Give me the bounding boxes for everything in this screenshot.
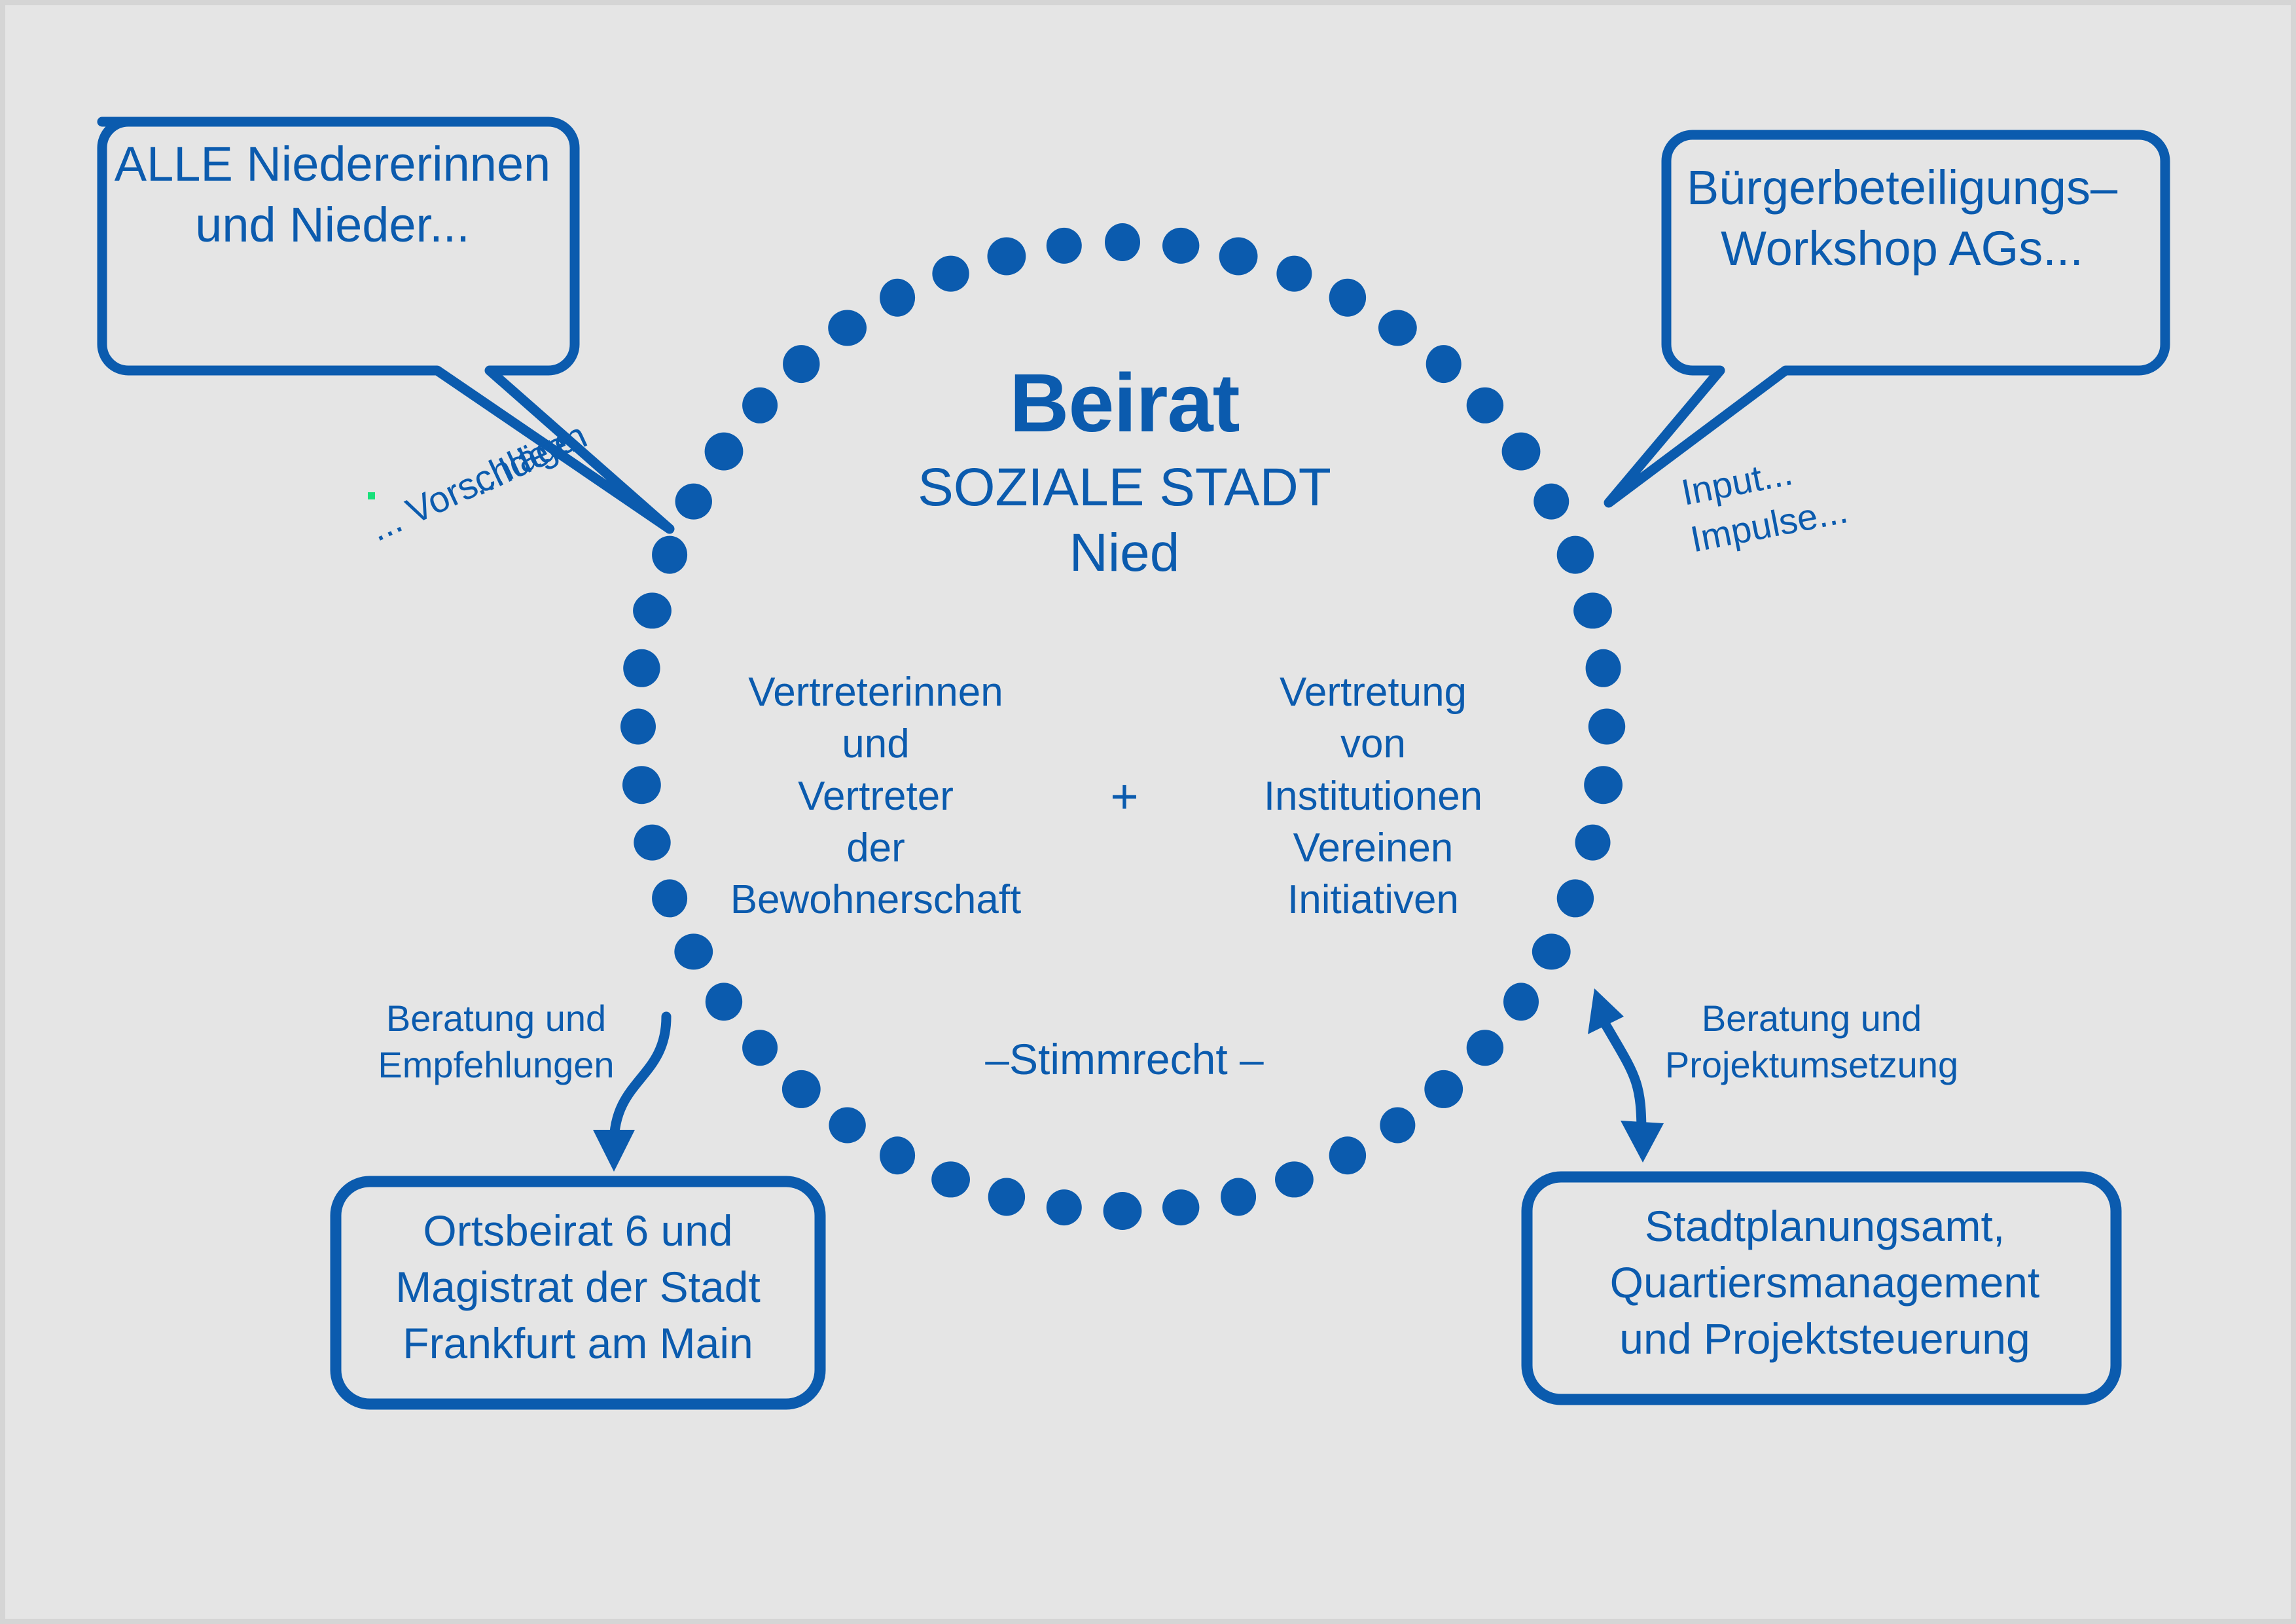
circle-dot [988,1178,1025,1216]
circle-columns: Vertreterinnen und Vertreter der Bewohne… [699,666,1550,926]
circle-dot [931,1161,970,1197]
box-bottom-right-label: Stadtplanungsamt, Quartiersmanagement un… [1537,1199,2113,1367]
circle-dot [633,592,672,628]
label-beratung-projektumsetzung: Beratung und Projektumsetzung [1635,996,1988,1088]
circle-column-left: Vertreterinnen und Vertreter der Bewohne… [699,666,1052,926]
circle-dot [1275,1161,1314,1197]
label-beratung-empfehlungen: Beratung und Empfehlungen [326,996,666,1088]
circle-dot [1503,983,1539,1020]
circle-dot [829,1108,865,1144]
circle-dot [1584,766,1623,804]
circle-dot [623,649,660,687]
circle-dot [706,983,742,1020]
circle-title-sub1: SOZIALE STADT [738,455,1511,520]
circle-dot [932,256,969,292]
circle-dot [1162,1189,1199,1225]
arrowhead-down-left [593,1130,635,1172]
circle-title-sub2: Nied [738,520,1511,586]
circle-dot [1380,1108,1415,1144]
circle-dot [880,279,915,317]
circle-dot [674,933,713,969]
circle-dot [1276,256,1312,292]
circle-dot [652,879,687,917]
box-bottom-left-label: Ortsbeirat 6 und Magistrat der Stadt Fra… [346,1203,810,1371]
bubble-top-right-label: Bürgerbeteiligungs– Workshop AGs... [1673,157,2131,279]
circle-dot [1162,228,1199,264]
circle-column-right: Vertretung von Institutionen Vereinen In… [1196,666,1550,926]
circle-dot [622,766,661,804]
circle-dot [742,1030,778,1066]
circle-dot [1047,228,1082,264]
circle-dot [988,238,1026,276]
circle-dot [1047,1189,1082,1225]
circle-dot [1557,879,1594,917]
diagram-canvas: ALLE Niedererinnen und Nieder... Bürgerb… [0,0,2296,1624]
circle-footer-stimmrecht: –Stimmrecht – [863,1034,1386,1084]
circle-dot [1221,1178,1256,1216]
circle-dot [782,1070,821,1108]
circle-dot [1329,1136,1366,1174]
circle-dot [1105,223,1140,261]
circle-dot [1573,592,1612,628]
circle-dot [1534,484,1569,520]
circle-dot [1424,1070,1463,1108]
circle-dot [880,1136,915,1174]
circle-dot [1329,279,1366,317]
circle-dot [1378,310,1417,346]
circle-dot [1532,933,1571,969]
circle-dot [1588,709,1625,745]
circle-dot [1575,825,1611,861]
circle-dot [1586,649,1621,687]
circle-dot [620,709,656,745]
circle-dot [652,536,687,574]
circle-dot [1467,1030,1503,1066]
circle-title-main: Beirat [738,362,1511,444]
arrowhead-down-right [1621,1121,1664,1163]
circle-title-group: Beirat SOZIALE STADT Nied [738,362,1511,586]
circle-dot [1103,1192,1142,1230]
circle-plus-operator: + [1095,768,1154,824]
circle-dot [634,825,670,861]
circle-dot [828,310,867,346]
stray-green-mark [368,492,375,499]
circle-dot [705,433,744,471]
bubble-top-left-label: ALLE Niedererinnen und Nieder... [103,134,562,255]
circle-dot [1219,238,1258,276]
circle-dot [675,484,712,520]
circle-dot [1557,536,1594,574]
